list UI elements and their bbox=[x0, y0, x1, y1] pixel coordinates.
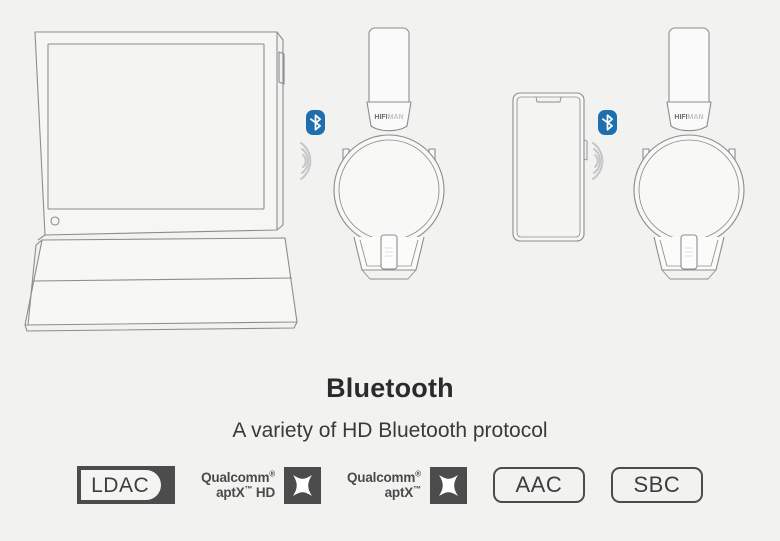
ldac-label: LDAC bbox=[91, 475, 151, 496]
sbc-label: SBC bbox=[634, 474, 681, 496]
hifiman-headphones-illustration-right: HIFIMAN bbox=[634, 28, 744, 279]
wireless-signal-icon-phone bbox=[593, 143, 602, 179]
codec-badge-sbc: SBC bbox=[611, 467, 703, 503]
aptx-x-icon bbox=[284, 467, 321, 504]
laptop-illustration bbox=[25, 32, 297, 331]
smartphone-illustration bbox=[513, 93, 587, 241]
bluetooth-feature-panel: HIFIMAN bbox=[0, 0, 780, 541]
bluetooth-badge-phone bbox=[598, 110, 617, 135]
caption-block: Bluetooth A variety of HD Bluetooth prot… bbox=[0, 372, 780, 444]
codec-badge-aptx: Qualcomm® aptX™ bbox=[347, 467, 467, 504]
brand-logo-text: HIFIMAN bbox=[674, 114, 703, 121]
brand-logo-text: HIFIMAN bbox=[374, 114, 403, 121]
aptx-x-icon bbox=[430, 467, 467, 504]
codec-badge-aac: AAC bbox=[493, 467, 585, 503]
aac-label: AAC bbox=[516, 474, 563, 496]
aptx-hd-codec-text: aptX™ HD bbox=[201, 485, 275, 500]
aptx-codec-text: aptX™ bbox=[347, 485, 421, 500]
codec-badge-ldac: LDAC bbox=[77, 466, 175, 504]
aptx-wordmark: Qualcomm® aptX™ bbox=[347, 470, 421, 500]
device-illustration-row: HIFIMAN bbox=[0, 0, 780, 350]
page-title: Bluetooth bbox=[0, 372, 780, 404]
wireless-signal-icon-laptop bbox=[301, 143, 310, 179]
page-subtitle: A variety of HD Bluetooth protocol bbox=[0, 418, 780, 443]
qualcomm-brand-text: Qualcomm® bbox=[201, 470, 275, 485]
codec-badge-aptx-hd: Qualcomm® aptX™ HD bbox=[201, 467, 321, 504]
hifiman-headphones-illustration-left: HIFIMAN bbox=[334, 28, 444, 279]
bluetooth-badge-laptop bbox=[306, 110, 325, 135]
codec-badge-row: LDAC Qualcomm® aptX™ HD Qualcomm® aptX™ bbox=[0, 466, 780, 504]
ldac-inner-plate: LDAC bbox=[81, 470, 161, 500]
aptx-hd-wordmark: Qualcomm® aptX™ HD bbox=[201, 470, 275, 500]
qualcomm-brand-text: Qualcomm® bbox=[347, 470, 421, 485]
